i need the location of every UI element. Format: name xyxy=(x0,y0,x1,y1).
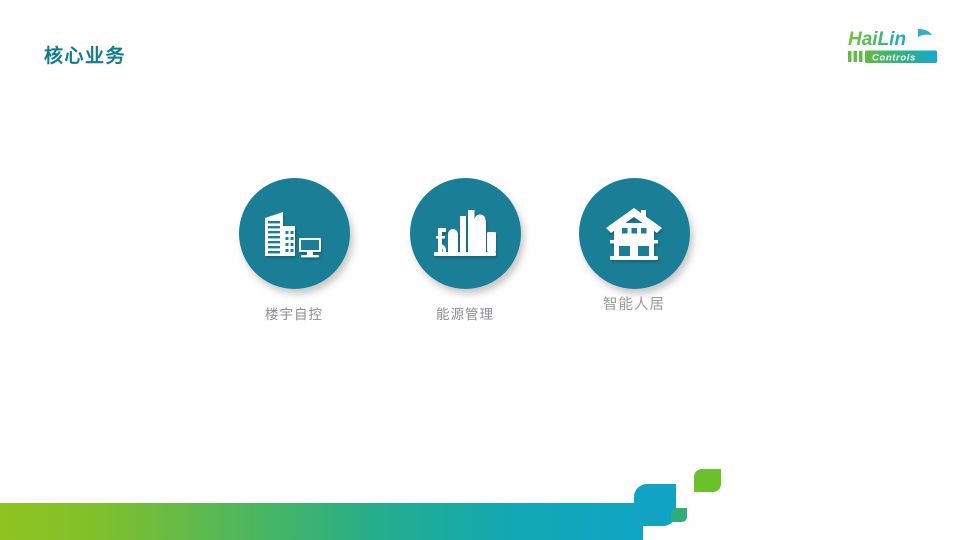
hailin-controls-logo: HaiLin Controls xyxy=(840,26,942,68)
page-title: 核心业务 xyxy=(44,41,126,68)
icon-circle[interactable] xyxy=(579,178,690,289)
business-item-label: 智能人居 xyxy=(554,293,714,314)
icon-circle[interactable] xyxy=(410,178,521,289)
footer-gradient-bar xyxy=(0,503,641,540)
building-computer-icon xyxy=(261,206,327,262)
icon-circle[interactable] xyxy=(239,178,350,289)
leaf-icon xyxy=(918,29,932,37)
logo-wordmark-text: HaiLin xyxy=(848,29,906,50)
house-icon xyxy=(604,206,664,262)
business-item-energy-management[interactable]: 能源管理 xyxy=(385,178,545,323)
footer-green-square-large xyxy=(694,469,721,492)
slide-canvas: 核心业务 HaiLin xyxy=(0,0,960,540)
business-item-label: 楼宇自控 xyxy=(214,303,374,323)
logo-bars-icon xyxy=(848,51,863,62)
business-item-label: 能源管理 xyxy=(385,303,545,323)
footer-accent-block xyxy=(634,484,676,526)
logo-tagline-text: Controls xyxy=(872,53,916,64)
business-item-smart-home[interactable]: 智能人居 xyxy=(554,178,714,314)
footer-green-square-small xyxy=(671,508,687,522)
factory-plant-icon xyxy=(434,206,496,262)
business-item-building-automation[interactable]: 楼宇自控 xyxy=(214,178,374,323)
